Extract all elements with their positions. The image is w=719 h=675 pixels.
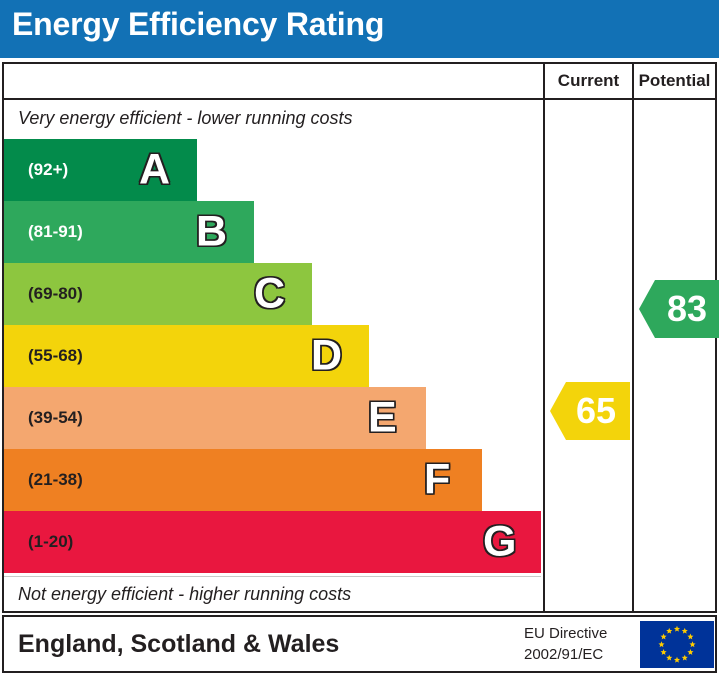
chart-footer: England, Scotland & Wales EU Directive 2… — [2, 615, 717, 673]
eu-directive-line1: EU Directive — [524, 623, 634, 644]
band-letter-a: A — [139, 149, 170, 192]
band-letter-g: G — [483, 521, 516, 564]
column-header-current: Current — [543, 64, 632, 98]
band-list: (92+)A(81-91)B(69-80)C(55-68)D(39-54)E(2… — [4, 138, 541, 576]
epc-chart: Energy Efficiency Rating Current Potenti… — [0, 0, 719, 675]
band-letter-e: E — [368, 397, 397, 440]
rating-value-current: 65 — [550, 382, 630, 440]
column-header-row: Current Potential — [4, 64, 715, 100]
band-row-g: (1-20)G — [4, 511, 541, 573]
eu-directive-line2: 2002/91/EC — [524, 644, 634, 665]
column-divider-current — [543, 100, 545, 611]
band-row-a: (92+)A — [4, 139, 541, 201]
band-range-e: (39-54) — [28, 387, 83, 449]
band-letter-d: D — [311, 335, 342, 378]
band-range-a: (92+) — [28, 139, 68, 201]
eu-directive-label: EU Directive 2002/91/EC — [524, 623, 634, 665]
band-range-d: (55-68) — [28, 325, 83, 387]
band-range-c: (69-80) — [28, 263, 83, 325]
band-bar-g: (1-20)G — [4, 511, 541, 573]
band-letter-f: F — [424, 459, 450, 502]
rating-value-potential: 83 — [639, 280, 719, 338]
band-row-c: (69-80)C — [4, 263, 541, 325]
band-row-b: (81-91)B — [4, 201, 541, 263]
band-row-e: (39-54)E — [4, 387, 541, 449]
eu-flag-icon — [640, 621, 714, 668]
rating-table: Current Potential Very energy efficient … — [2, 62, 717, 613]
band-bar-f: (21-38)F — [4, 449, 482, 511]
chart-title-bar: Energy Efficiency Rating — [0, 0, 719, 58]
band-range-g: (1-20) — [28, 511, 73, 573]
caption-not-efficient: Not energy efficient - higher running co… — [4, 576, 541, 611]
band-bar-b: (81-91)B — [4, 201, 254, 263]
band-bar-e: (39-54)E — [4, 387, 426, 449]
band-range-b: (81-91) — [28, 201, 83, 263]
caption-very-efficient: Very energy efficient - lower running co… — [4, 100, 541, 136]
band-row-f: (21-38)F — [4, 449, 541, 511]
band-letter-b: B — [196, 211, 227, 254]
band-bar-c: (69-80)C — [4, 263, 312, 325]
band-row-d: (55-68)D — [4, 325, 541, 387]
column-divider-potential — [632, 100, 634, 611]
band-bar-a: (92+)A — [4, 139, 197, 201]
band-bar-d: (55-68)D — [4, 325, 369, 387]
footer-region-label: England, Scotland & Wales — [18, 617, 339, 671]
column-header-potential: Potential — [632, 64, 715, 98]
band-range-f: (21-38) — [28, 449, 83, 511]
band-letter-c: C — [254, 273, 285, 316]
page-title: Energy Efficiency Rating — [12, 6, 384, 43]
